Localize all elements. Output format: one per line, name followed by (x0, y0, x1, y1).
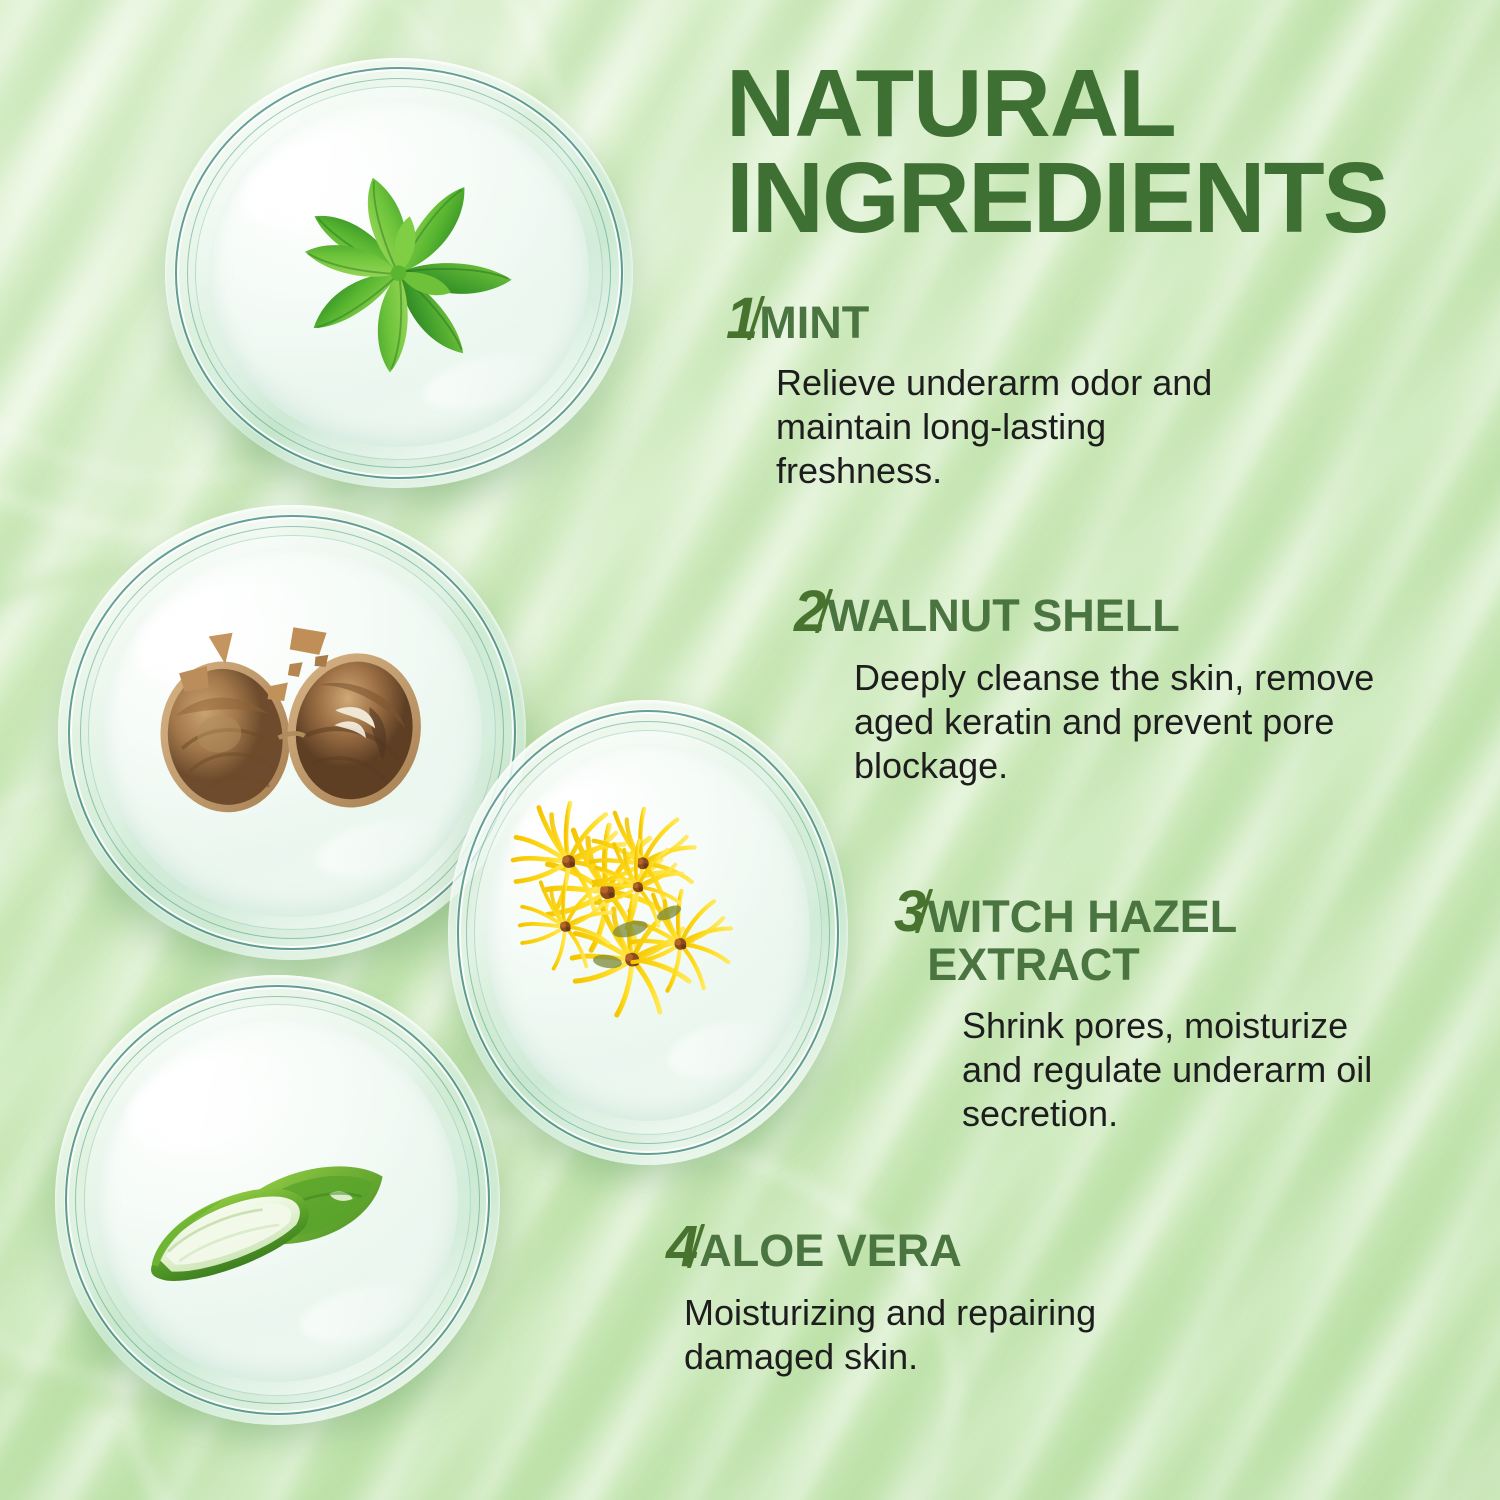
ingredient-number: 1 (726, 292, 755, 345)
ingredient-heading: 4 ALOE VERA (666, 1228, 1406, 1281)
dish-plate (97, 1018, 457, 1383)
ingredient-description: Relieve underarm odor and maintain long-… (776, 361, 1466, 493)
walnut-shell-icon (102, 548, 481, 917)
ingredients-poster: NATURAL INGREDIENTS 1 MINT Relieve under… (0, 0, 1500, 1500)
ingredient-item-walnut-shell: 2 WALNUT SHELL Deeply cleanse the skin, … (794, 593, 1500, 788)
copy-column: NATURAL INGREDIENTS 1 MINT Relieve under… (706, 0, 1500, 1500)
ingredient-description: Shrink pores, moisturize and regulate un… (962, 1004, 1500, 1136)
ingredient-name: ALOE VERA (699, 1228, 962, 1273)
ingredient-item-mint: 1 MINT Relieve underarm odor and maintai… (726, 300, 1466, 493)
title-line-1: NATURAL (726, 58, 1496, 150)
ingredient-item-aloe-vera: 4 ALOE VERA Moisturizing and repairing d… (666, 1228, 1406, 1379)
title-line-2: INGREDIENTS (726, 150, 1496, 246)
ingredient-name: WITCH HAZEL EXTRACT (927, 893, 1237, 988)
petri-dish-mint (165, 58, 633, 488)
dish-plate (102, 548, 481, 917)
mint-leaves-icon (209, 99, 588, 447)
dish-plate (209, 99, 588, 447)
ingredient-name: MINT (759, 300, 869, 345)
ingredient-item-witch-hazel-extract: 3 WITCH HAZEL EXTRACT Shrink pores, mois… (894, 893, 1500, 1136)
ingredient-number: 3 (894, 885, 923, 938)
petri-dish-aloe-vera (55, 975, 500, 1425)
ingredient-name: WALNUT SHELL (827, 593, 1179, 638)
ingredient-description: Deeply cleanse the skin, remove aged ker… (854, 656, 1500, 788)
ingredient-heading: 2 WALNUT SHELL (794, 593, 1500, 646)
ingredient-number: 4 (666, 1220, 695, 1273)
ingredient-heading: 3 WITCH HAZEL EXTRACT (894, 893, 1500, 988)
page-title: NATURAL INGREDIENTS (726, 58, 1496, 246)
ingredient-number: 2 (794, 585, 823, 638)
aloe-vera-slices-icon (97, 1018, 457, 1383)
ingredient-heading: 1 MINT (726, 300, 1466, 353)
ingredient-description: Moisturizing and repairing damaged skin. (684, 1291, 1406, 1379)
